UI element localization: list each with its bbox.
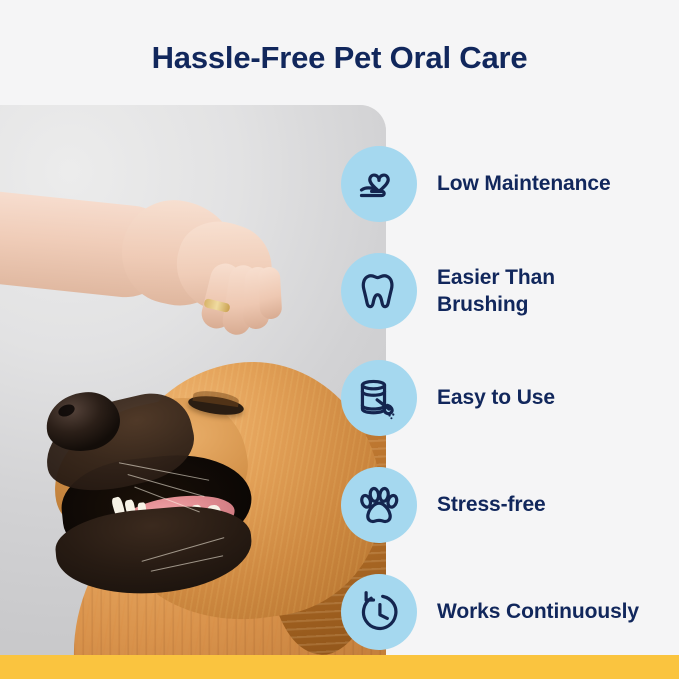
infographic-root: Hassle-Free Pet Oral Care <box>0 0 679 679</box>
page-title: Hassle-Free Pet Oral Care <box>0 36 679 80</box>
feature-label: Works Continuously <box>437 598 639 625</box>
human-hand <box>0 105 386 657</box>
product-photo <box>0 105 386 657</box>
feature-item-works-continuously: Works Continuously <box>341 558 679 665</box>
feature-label: Stress-free <box>437 491 546 518</box>
jar-with-scoop-icon <box>341 360 417 436</box>
feature-label: Easier Than Brushing <box>437 264 642 318</box>
clock-arrow-icon <box>341 574 417 650</box>
hand-finger <box>258 266 283 319</box>
paw-print-icon <box>341 467 417 543</box>
heart-in-hand-icon <box>341 146 417 222</box>
feature-item-easier-than-brushing: Easier Than Brushing <box>341 237 679 344</box>
feature-label: Low Maintenance <box>437 170 611 197</box>
tooth-icon <box>341 253 417 329</box>
feature-list: Low Maintenance Easier Than Brushing <box>341 130 679 665</box>
feature-item-stress-free: Stress-free <box>341 451 679 558</box>
feature-item-low-maintenance: Low Maintenance <box>341 130 679 237</box>
feature-label: Easy to Use <box>437 384 555 411</box>
accent-bar <box>0 655 679 679</box>
feature-item-easy-to-use: Easy to Use <box>341 344 679 451</box>
